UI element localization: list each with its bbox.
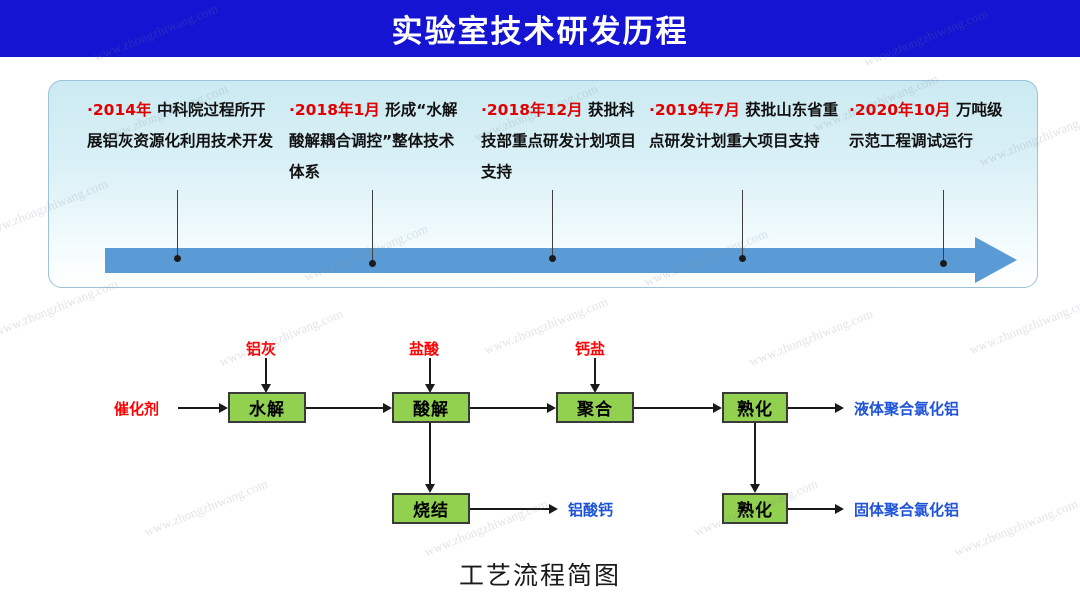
timeline-entry-0: ·2014年 中科院过程所开展铝灰资源化利用技术开发 [87, 95, 277, 157]
flow-arrowhead-calcium-aluminate-icon [549, 504, 558, 514]
timeline-dot-4 [940, 260, 947, 267]
timeline-entry-0-date: 2014年 [93, 101, 152, 119]
timeline-entry-1: ·2018年1月 形成“水解酸解耦合调控”整体技术体系 [289, 95, 467, 188]
flow-feed-line-hydrochloric-acid [429, 358, 431, 386]
timeline-dot-1 [369, 260, 376, 267]
timeline-tick-3 [742, 190, 743, 258]
page-title: 实验室技术研发历程 [0, 0, 1080, 57]
timeline-dot-2 [549, 255, 556, 262]
flow-feed-line-aluminum-ash [265, 358, 267, 386]
flow-line-acidolysis-to-sintering [429, 423, 431, 486]
timeline-entries: ·2014年 中科院过程所开展铝灰资源化利用技术开发 ·2018年1月 形成“水… [49, 81, 1039, 211]
timeline-entry-4-date: 2020年10月 [855, 101, 951, 119]
flow-output-solid-pac-label: 固体聚合氯化铝 [854, 499, 959, 520]
flow-arrowhead-liquid-pac-icon [835, 403, 844, 413]
flow-line-hydrolysis-to-acidolysis [306, 407, 384, 409]
flow-arrowhead-solid-pac-icon [835, 504, 844, 514]
timeline-entry-1-date: 2018年1月 [295, 101, 380, 119]
flow-line-curing-solid-to-solid-pac [788, 508, 836, 510]
flow-box-hydrolysis[interactable]: 水解 [228, 392, 306, 423]
flow-line-curing-to-liquid-pac [788, 407, 836, 409]
flow-input-hydrochloric-acid-label: 盐酸 [409, 338, 439, 359]
process-flow-diagram: 催化剂 铝灰 盐酸 钙盐 水解 酸解 聚合 熟化 液体聚合氯化铝 烧结 [0, 300, 1080, 550]
timeline-entry-4: ·2020年10月 万吨级示范工程调试运行 [849, 95, 1009, 157]
flow-input-aluminum-ash-label: 铝灰 [246, 338, 276, 359]
timeline-dot-0 [174, 255, 181, 262]
flow-box-polymerization[interactable]: 聚合 [556, 392, 634, 423]
flow-input-catalyst-label: 催化剂 [114, 398, 159, 419]
timeline-arrow-head-icon [975, 237, 1017, 283]
flow-feed-line-calcium-salt [594, 358, 596, 386]
flow-arrowhead-curing-icon [713, 403, 722, 413]
flow-line-polymerization-to-curing [634, 407, 714, 409]
flow-output-liquid-pac-label: 液体聚合氯化铝 [854, 398, 959, 419]
timeline-tick-0 [177, 190, 178, 258]
timeline-dot-3 [739, 255, 746, 262]
flow-line-acidolysis-to-polymerization [470, 407, 548, 409]
flow-arrowhead-polymerization-icon [547, 403, 556, 413]
diagram-caption: 工艺流程简图 [0, 556, 1080, 592]
slide-title-bar: 实验室技术研发历程 [0, 0, 1080, 57]
flow-line-catalyst [178, 407, 220, 409]
flow-box-acidolysis[interactable]: 酸解 [392, 392, 470, 423]
timeline-entry-2-date: 2018年12月 [487, 101, 583, 119]
flow-arrowhead-curing-solid-icon [750, 484, 760, 493]
flow-line-sintering-to-calcium-aluminate [470, 508, 550, 510]
flow-box-sintering[interactable]: 烧结 [392, 493, 470, 524]
flow-arrowhead-sintering-icon [425, 484, 435, 493]
flow-output-calcium-aluminate-label: 铝酸钙 [568, 499, 613, 520]
flow-line-curing-to-curing-solid [754, 423, 756, 486]
timeline-entry-3-date: 2019年7月 [655, 101, 740, 119]
flow-input-calcium-salt-label: 钙盐 [575, 338, 605, 359]
flow-box-curing-solid[interactable]: 熟化 [722, 493, 788, 524]
timeline-tick-4 [943, 190, 944, 263]
timeline-entry-2: ·2018年12月 获批科技部重点研发计划项目支持 [481, 95, 641, 188]
flow-arrowhead-acidolysis-icon [383, 403, 392, 413]
timeline-entry-3: ·2019年7月 获批山东省重点研发计划重大项目支持 [649, 95, 839, 157]
flow-arrowhead-catalyst-icon [219, 403, 228, 413]
flow-box-curing-liquid[interactable]: 熟化 [722, 392, 788, 423]
timeline-tick-2 [552, 190, 553, 258]
timeline-arrow-bar [105, 248, 975, 273]
slide-root: 实验室技术研发历程 ·2014年 中科院过程所开展铝灰资源化利用技术开发 ·20… [0, 0, 1080, 608]
timeline-tick-1 [372, 190, 373, 263]
